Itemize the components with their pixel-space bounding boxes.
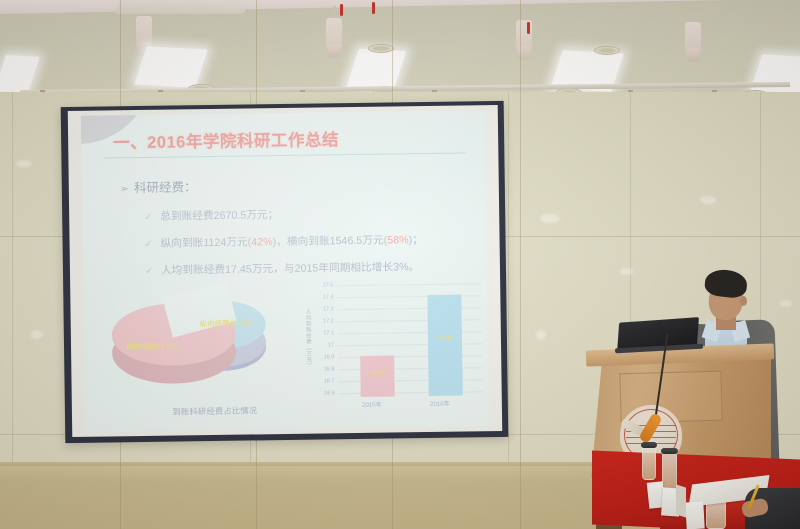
wall-mark	[30, 330, 43, 339]
slide-title-divider	[103, 152, 465, 158]
bullet-item-1-label: 总到账经费2670.5万元；	[160, 209, 278, 223]
wall-mark	[620, 268, 633, 275]
floor-seam	[520, 0, 521, 529]
ceiling-spotlight	[685, 22, 701, 56]
check-bullet-icon: ✓	[145, 239, 153, 250]
bar-ytick: 17.3	[311, 306, 333, 312]
glass-lid	[661, 448, 678, 454]
ceiling-panel-light	[134, 46, 207, 87]
bullet-item-3: ✓人均到账经费17.45万元，与2015年同期相比增长3%。	[145, 259, 420, 278]
glass-lid	[641, 442, 657, 448]
bar-ytick: 16.6	[313, 390, 335, 396]
sprinkler-indicator	[527, 22, 530, 34]
bullet-level1-label: 科研经费：	[134, 180, 197, 195]
bar-2016: 17.45	[427, 295, 462, 396]
ceiling-spotlight	[136, 16, 152, 50]
bar-chart: 人均到账经费（万元） 17.5 17.4 17.3 17.2 17.1 17 1…	[299, 278, 489, 427]
presentation-slide: 一、2016年学院科研工作总结 ➢科研经费： ✓总到账经费2670.5万元； ✓…	[81, 110, 489, 432]
water-glass	[642, 446, 656, 480]
photo-scene: 一、2016年学院科研工作总结 ➢科研经费： ✓总到账经费2670.5万元； ✓…	[0, 0, 800, 529]
wall-mark	[536, 330, 546, 340]
slide-title: 一、2016年学院科研工作总结	[113, 126, 339, 153]
ceiling-spotlight	[326, 18, 342, 52]
bar-plot-area: 16.94 17.45	[337, 282, 483, 397]
bullet-item-2-pre: 纵向到账1124万元(	[160, 236, 251, 249]
pie-label-primary: 横向经费57.9%	[126, 341, 178, 352]
bullet-level1: ➢科研经费：	[120, 176, 197, 196]
bar-value-2016: 17.45	[428, 335, 462, 342]
bar-xlabel-2016: 2016年	[415, 398, 465, 408]
wall-mark	[16, 160, 32, 167]
bar-ytick: 16.9	[312, 354, 334, 360]
sprinkler-indicator	[372, 2, 375, 14]
sprinkler-indicator	[340, 4, 343, 16]
bar-ytick: 16.8	[312, 366, 334, 372]
bullet-item-2-mid: )，横向到账1546.5万元(	[273, 235, 388, 249]
bar-ytick: 16.7	[312, 378, 334, 384]
bullet-item-3-pre: 人均到账经费17.45万元，与2015年同期相比增长	[161, 261, 393, 276]
ceiling-vent	[368, 44, 394, 53]
bar-ytick: 17	[312, 342, 334, 348]
screen-surface: 一、2016年学院科研工作总结 ➢科研经费： ✓总到账经费2670.5万元； ✓…	[68, 105, 503, 437]
name-card	[685, 502, 704, 529]
check-bullet-icon: ✓	[145, 266, 153, 277]
bullet-item-3-post: 。	[409, 261, 420, 273]
bullet-item-1: ✓总到账经费2670.5万元；	[144, 207, 278, 224]
bar-xlabel-2015: 2015年	[347, 399, 397, 409]
wall-mark	[540, 214, 560, 223]
water-glass	[662, 452, 677, 492]
presenter-ear	[740, 296, 747, 306]
check-bullet-icon: ✓	[144, 212, 152, 223]
bullet-item-2-pct-vertical: 42%	[251, 236, 273, 248]
pie-chart-title: 到账科研经费占比情况	[145, 404, 285, 418]
wall-mark	[700, 196, 716, 204]
bullet-item-2: ✓纵向到账1124万元(42%)，横向到账1546.5万元(58%)；	[144, 232, 423, 251]
ceiling-projector	[114, 0, 252, 14]
ceiling-vent	[594, 46, 620, 55]
bar-ytick: 17.1	[312, 330, 334, 336]
bar-ytick: 17.2	[312, 318, 334, 324]
bullet-item-2-pct-horizontal: 58%	[387, 234, 409, 246]
pie-label-secondary: 纵向经费42.1%	[200, 318, 252, 329]
bar-ytick: 17.4	[311, 294, 333, 300]
bar-2015: 16.94	[360, 355, 395, 396]
arrow-bullet-icon: ➢	[120, 183, 129, 195]
bar-ytick: 17.5	[311, 282, 333, 288]
name-card-edge	[676, 484, 686, 517]
pie-chart: 横向经费57.9% 纵向经费42.1% 到账科研经费占比情况	[95, 288, 312, 426]
bar-value-2015: 16.94	[360, 369, 394, 376]
projection-screen: 一、2016年学院科研工作总结 ➢科研经费： ✓总到账经费2670.5万元； ✓…	[61, 101, 509, 443]
bullet-item-2-post: )；	[409, 234, 423, 246]
bullet-item-3-pct: 3%	[393, 261, 409, 273]
